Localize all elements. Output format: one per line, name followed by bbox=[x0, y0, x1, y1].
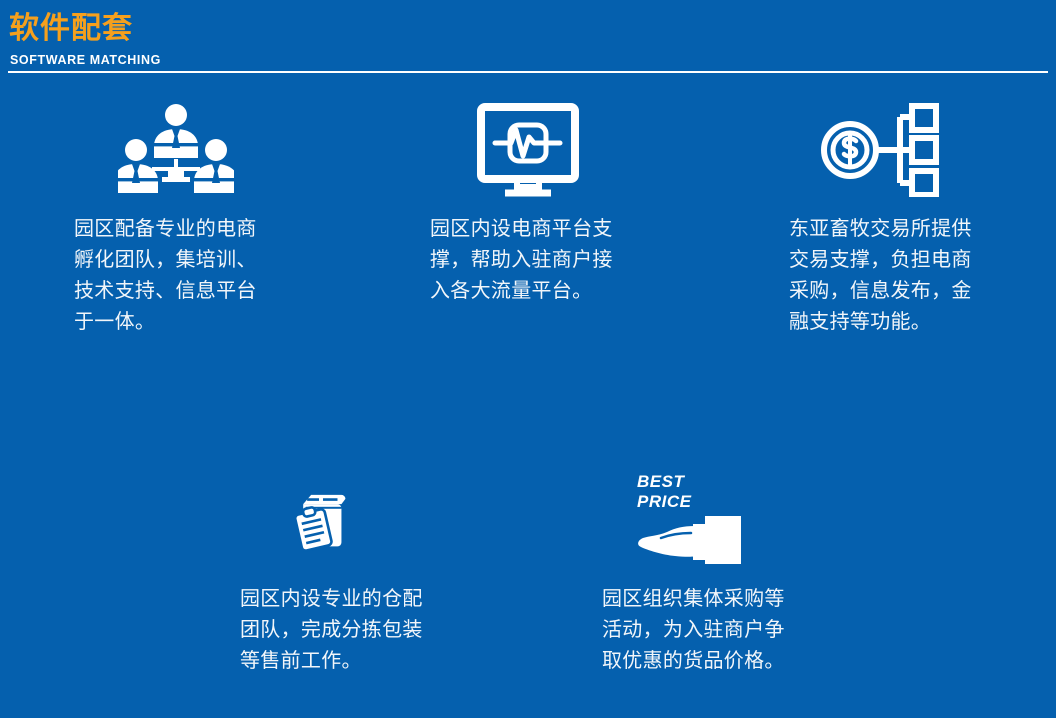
page-root: { "theme": { "background": "#0560ae", "a… bbox=[0, 0, 1056, 718]
feature-card-5: BEST PRICE 园区组织集体采购等活动，为入驻商户争取优惠的货品价格。 bbox=[352, 470, 704, 677]
feature-text: 园区配备专业的电商孵化团队，集培训、技术支持、信息平台于一体。 bbox=[74, 214, 266, 338]
best-price-label: BEST PRICE bbox=[637, 472, 743, 512]
feature-card-2: 园区内设电商平台支撑，帮助入驻商户接入各大流量平台。 bbox=[352, 100, 704, 307]
team-people-icon bbox=[0, 100, 352, 200]
feature-text: 园区组织集体采购等活动，为入驻商户争取优惠的货品价格。 bbox=[602, 584, 788, 677]
page-header: 软件配套 SOFTWARE MATCHING bbox=[0, 0, 1056, 78]
feature-grid: 园区配备专业的电商孵化团队，集培训、技术支持、信息平台于一体。 园区内设电商平台… bbox=[0, 78, 1056, 718]
feature-text: 园区内设电商平台支撑，帮助入驻商户接入各大流量平台。 bbox=[430, 214, 622, 307]
page-title: 软件配套 bbox=[9, 11, 133, 47]
page-subtitle: SOFTWARE MATCHING bbox=[10, 53, 161, 68]
best-price-hand-icon: BEST PRICE bbox=[352, 470, 704, 570]
feature-text: 东亚畜牧交易所提供交易支撑，负担电商采购，信息发布，金融支持等功能。 bbox=[789, 214, 981, 338]
feature-card-1: 园区配备专业的电商孵化团队，集培训、技术支持、信息平台于一体。 bbox=[0, 100, 352, 338]
header-divider bbox=[8, 71, 1048, 73]
feature-card-4: 园区内设专业的仓配团队，完成分拣包装等售前工作。 bbox=[0, 470, 352, 677]
dollar-network-icon bbox=[704, 100, 1056, 200]
package-clipboard-icon bbox=[0, 470, 352, 570]
feature-card-3: 东亚畜牧交易所提供交易支撑，负担电商采购，信息发布，金融支持等功能。 bbox=[704, 100, 1056, 338]
monitor-pulse-icon bbox=[352, 100, 704, 200]
